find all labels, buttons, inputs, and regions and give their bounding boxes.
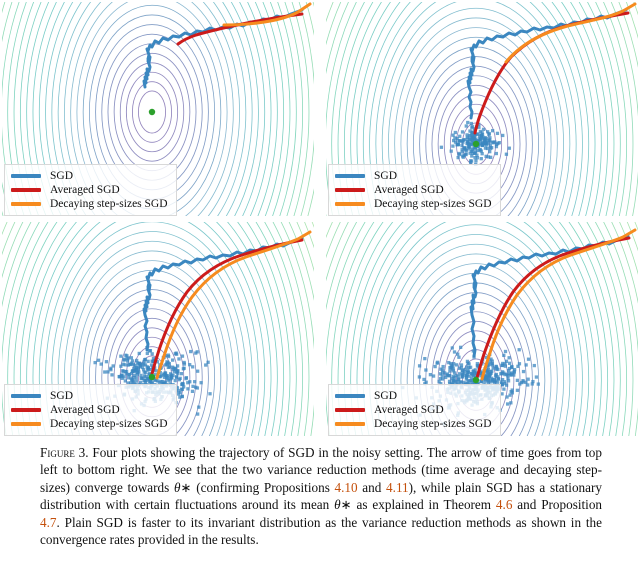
legend-entry-2: Averaged SGD bbox=[335, 403, 492, 417]
legend-entry-3: Decaying step-sizes SGD bbox=[11, 417, 168, 431]
sgd-sample-point bbox=[474, 159, 477, 162]
legend-label-3: Decaying step-sizes SGD bbox=[50, 197, 168, 211]
sgd-sample-point bbox=[124, 379, 127, 382]
sgd-sample-point bbox=[135, 379, 138, 382]
sgd-sample-point bbox=[418, 364, 421, 367]
sgd-sample-point bbox=[466, 121, 469, 124]
sgd-sample-point bbox=[130, 356, 133, 359]
legend-4: SGDAveraged SGDDecaying step-sizes SGD bbox=[328, 384, 501, 436]
figure-label: Figure 3. bbox=[40, 445, 89, 460]
sgd-sample-point bbox=[171, 368, 174, 371]
sgd-sample-point bbox=[455, 363, 458, 366]
sgd-sample-point bbox=[424, 368, 427, 371]
sgd-sample-point bbox=[506, 402, 509, 405]
sgd-sample-point bbox=[451, 346, 454, 349]
sgd-sample-point bbox=[191, 365, 194, 368]
sgd-sample-point bbox=[194, 351, 197, 354]
sgd-sample-point bbox=[452, 362, 455, 365]
reference-4-11[interactable]: 4.11 bbox=[386, 480, 409, 495]
sgd-sample-point bbox=[481, 152, 484, 155]
reference-4-6[interactable]: 4.6 bbox=[496, 497, 512, 512]
sgd-sample-point bbox=[502, 387, 505, 390]
sgd-sample-point bbox=[441, 374, 444, 377]
sgd-sample-point bbox=[181, 354, 184, 357]
sgd-sample-point bbox=[508, 367, 511, 370]
sgd-sample-point bbox=[533, 364, 536, 367]
sgd-sample-point bbox=[535, 375, 538, 378]
sgd-sample-point bbox=[457, 356, 460, 359]
sgd-sample-point bbox=[501, 364, 504, 367]
legend-entry-3: Decaying step-sizes SGD bbox=[11, 197, 168, 211]
sgd-sample-point bbox=[485, 377, 488, 380]
sgd-sample-point bbox=[531, 382, 534, 385]
sgd-sample-point bbox=[500, 372, 503, 375]
legend-label-1: SGD bbox=[50, 389, 73, 403]
sgd-sample-point bbox=[493, 378, 496, 381]
sgd-sample-point bbox=[465, 124, 468, 127]
sgd-sample-point bbox=[516, 365, 519, 368]
sgd-sample-point bbox=[105, 360, 108, 363]
sgd-sample-point bbox=[466, 362, 469, 365]
sgd-sample-point bbox=[175, 351, 178, 354]
sgd-sample-point bbox=[183, 362, 186, 365]
sgd-sample-point bbox=[516, 379, 519, 382]
sgd-sample-point bbox=[505, 153, 508, 156]
sgd-sample-point bbox=[445, 374, 448, 377]
plot-panel-top-left: SGDAveraged SGDDecaying step-sizes SGD bbox=[2, 2, 314, 216]
sgd-sample-point bbox=[513, 370, 516, 373]
sgd-sample-point bbox=[492, 366, 495, 369]
sgd-sample-point bbox=[488, 150, 491, 153]
sgd-sample-point bbox=[109, 368, 112, 371]
theta-star-2: ∗ bbox=[341, 497, 352, 512]
legend-label-3: Decaying step-sizes SGD bbox=[374, 197, 492, 211]
sgd-sample-point bbox=[188, 363, 191, 366]
legend-2: SGDAveraged SGDDecaying step-sizes SGD bbox=[328, 164, 501, 216]
line-swatch-red bbox=[335, 408, 365, 412]
sgd-sample-point bbox=[103, 370, 106, 373]
sgd-sample-point bbox=[469, 366, 472, 369]
legend-entry-1: SGD bbox=[335, 389, 492, 403]
sgd-sample-point bbox=[480, 143, 483, 146]
sgd-sample-point bbox=[185, 376, 188, 379]
sgd-sample-point bbox=[197, 406, 200, 409]
sgd-sample-point bbox=[484, 380, 487, 383]
sgd-sample-point bbox=[146, 368, 149, 371]
sgd-sample-point bbox=[470, 122, 473, 125]
sgd-sample-point bbox=[468, 134, 471, 137]
legend-entry-3: Decaying step-sizes SGD bbox=[335, 197, 492, 211]
sgd-sample-point bbox=[495, 145, 498, 148]
sgd-sample-point bbox=[138, 352, 141, 355]
sgd-sample-point bbox=[496, 375, 499, 378]
plot-panel-top-right: SGDAveraged SGDDecaying step-sizes SGD bbox=[326, 2, 638, 216]
plot-grid: SGDAveraged SGDDecaying step-sizes SGD S… bbox=[0, 0, 640, 440]
sgd-sample-point bbox=[461, 371, 464, 374]
sgd-sample-point bbox=[502, 354, 505, 357]
sgd-sample-point bbox=[208, 392, 211, 395]
sgd-sample-point bbox=[471, 139, 474, 142]
sgd-trajectory-3 bbox=[144, 238, 302, 350]
sgd-sample-point bbox=[139, 365, 142, 368]
sgd-sample-point bbox=[142, 362, 145, 365]
sgd-sample-point bbox=[422, 378, 425, 381]
line-swatch-red bbox=[11, 188, 41, 192]
sgd-sample-point bbox=[487, 133, 490, 136]
sgd-sample-point bbox=[484, 146, 487, 149]
sgd-sample-point bbox=[131, 378, 134, 381]
sgd-sample-point bbox=[167, 354, 170, 357]
sgd-sample-point bbox=[175, 375, 178, 378]
sgd-sample-point bbox=[473, 156, 476, 159]
sgd-sample-point bbox=[137, 370, 140, 373]
sgd-sample-point bbox=[191, 385, 194, 388]
sgd-sample-point bbox=[171, 358, 174, 361]
line-swatch-orange bbox=[335, 422, 365, 426]
sgd-sample-point bbox=[507, 379, 510, 382]
legend-label-3: Decaying step-sizes SGD bbox=[50, 417, 168, 431]
sgd-sample-point bbox=[177, 357, 180, 360]
sgd-sample-point bbox=[457, 152, 460, 155]
sgd-sample-point bbox=[112, 364, 115, 367]
sgd-sample-point bbox=[429, 373, 432, 376]
sgd-sample-point bbox=[159, 380, 162, 383]
sgd-sample-point bbox=[463, 154, 466, 157]
sgd-sample-point bbox=[467, 375, 470, 378]
sgd-sample-point bbox=[485, 137, 488, 140]
sgd-sample-point bbox=[516, 389, 519, 392]
sgd-sample-point bbox=[183, 367, 186, 370]
sgd-sample-point bbox=[496, 132, 499, 135]
sgd-sample-point bbox=[448, 369, 451, 372]
sgd-sample-point bbox=[464, 374, 467, 377]
reference-4-7[interactable]: 4.7 bbox=[40, 515, 56, 530]
sgd-sample-point bbox=[119, 355, 122, 358]
sgd-sample-point bbox=[451, 144, 454, 147]
sgd-sample-point bbox=[489, 156, 492, 159]
sgd-sample-point bbox=[521, 380, 524, 383]
line-swatch-red bbox=[335, 188, 365, 192]
sgd-sample-point bbox=[135, 376, 138, 379]
sgd-sample-point bbox=[467, 370, 470, 373]
sgd-sample-point bbox=[518, 348, 521, 351]
legend-entry-2: Averaged SGD bbox=[11, 403, 168, 417]
sgd-sample-point bbox=[181, 382, 184, 385]
sgd-sample-point bbox=[509, 401, 512, 404]
sgd-sample-point bbox=[480, 157, 483, 160]
sgd-sample-point bbox=[174, 379, 177, 382]
sgd-sample-point bbox=[482, 128, 485, 131]
legend-entry-1: SGD bbox=[11, 389, 168, 403]
sgd-sample-point bbox=[498, 141, 501, 144]
sgd-sample-point bbox=[450, 377, 453, 380]
sgd-sample-point bbox=[186, 387, 189, 390]
sgd-sample-point bbox=[125, 370, 128, 373]
sgd-sample-point bbox=[126, 363, 129, 366]
sgd-sample-point bbox=[459, 346, 462, 349]
sgd-sample-point bbox=[522, 370, 525, 373]
sgd-sample-point bbox=[171, 374, 174, 377]
sgd-sample-point bbox=[437, 380, 440, 383]
sgd-sample-point bbox=[100, 362, 103, 365]
legend-label-1: SGD bbox=[374, 389, 397, 403]
caption-sentence-6: and Proposition bbox=[512, 497, 602, 512]
sgd-sample-point bbox=[508, 356, 511, 359]
sgd-sample-point bbox=[461, 130, 464, 133]
sgd-sample-point bbox=[489, 147, 492, 150]
figure-page: SGDAveraged SGDDecaying step-sizes SGD S… bbox=[0, 0, 640, 582]
theta-star-1: ∗ bbox=[180, 480, 191, 495]
sgd-sample-point bbox=[479, 138, 482, 141]
sgd-sample-point bbox=[436, 361, 439, 364]
sgd-sample-point bbox=[495, 365, 498, 368]
sgd-sample-point bbox=[121, 377, 124, 380]
sgd-sample-point bbox=[508, 372, 511, 375]
caption-sentence-3: and bbox=[358, 480, 386, 495]
line-swatch-blue bbox=[335, 174, 365, 178]
sgd-sample-point bbox=[457, 139, 460, 142]
line-swatch-blue bbox=[11, 394, 41, 398]
figure-caption: Figure 3. Four plots showing the traject… bbox=[40, 444, 602, 548]
sgd-sample-point bbox=[501, 134, 504, 137]
sgd-sample-point bbox=[146, 352, 149, 355]
sgd-sample-point bbox=[136, 361, 139, 364]
sgd-sample-point bbox=[527, 358, 530, 361]
sgd-sample-point bbox=[178, 396, 181, 399]
sgd-sample-point bbox=[176, 370, 179, 373]
sgd-sample-point bbox=[470, 159, 473, 162]
sgd-sample-point bbox=[168, 362, 171, 365]
sgd-sample-point bbox=[132, 363, 135, 366]
sgd-sample-point bbox=[146, 365, 149, 368]
sgd-sample-point bbox=[458, 367, 461, 370]
optimum-theta-star-dot-4 bbox=[473, 377, 479, 383]
sgd-sample-point bbox=[518, 382, 521, 385]
sgd-sample-point bbox=[199, 381, 202, 384]
sgd-sample-point bbox=[119, 365, 122, 368]
sgd-sample-point bbox=[480, 131, 483, 134]
sgd-sample-point bbox=[526, 383, 529, 386]
sgd-sample-point bbox=[461, 150, 464, 153]
legend-label-1: SGD bbox=[374, 169, 397, 183]
sgd-sample-point bbox=[432, 374, 435, 377]
sgd-sample-point bbox=[151, 352, 154, 355]
sgd-sample-point bbox=[186, 381, 189, 384]
sgd-sample-point bbox=[495, 152, 498, 155]
sgd-sample-point bbox=[180, 372, 183, 375]
sgd-sample-point bbox=[189, 350, 192, 353]
sgd-sample-point bbox=[490, 370, 493, 373]
legend-entry-1: SGD bbox=[335, 169, 492, 183]
sgd-sample-point bbox=[121, 370, 124, 373]
reference-4-10[interactable]: 4.10 bbox=[335, 480, 358, 495]
caption-sentence-2: (confirming Propositions bbox=[192, 480, 335, 495]
sgd-sample-point bbox=[524, 363, 527, 366]
plot-panel-bottom-left: SGDAveraged SGDDecaying step-sizes SGD bbox=[2, 222, 314, 436]
sgd-sample-point bbox=[486, 130, 489, 133]
sgd-sample-point bbox=[505, 373, 508, 376]
sgd-sample-point bbox=[500, 383, 503, 386]
legend-label-1: SGD bbox=[50, 169, 73, 183]
sgd-sample-point bbox=[106, 370, 109, 373]
sgd-sample-point bbox=[124, 354, 127, 357]
sgd-sample-point bbox=[450, 149, 453, 152]
sgd-sample-point bbox=[449, 362, 452, 365]
sgd-sample-point bbox=[110, 373, 113, 376]
legend-entry-2: Averaged SGD bbox=[335, 183, 492, 197]
sgd-sample-point bbox=[127, 376, 130, 379]
sgd-sample-point bbox=[455, 143, 458, 146]
plot-panel-bottom-right: SGDAveraged SGDDecaying step-sizes SGD bbox=[326, 222, 638, 436]
sgd-sample-point bbox=[191, 390, 194, 393]
sgd-sample-point bbox=[467, 145, 470, 148]
legend-entry-1: SGD bbox=[11, 169, 168, 183]
legend-label-2: Averaged SGD bbox=[374, 183, 444, 197]
sgd-sample-point bbox=[180, 388, 183, 391]
sgd-sample-point bbox=[488, 138, 491, 141]
sgd-sample-point bbox=[455, 374, 458, 377]
sgd-sample-point bbox=[131, 369, 134, 372]
legend-1: SGDAveraged SGDDecaying step-sizes SGD bbox=[4, 164, 177, 216]
line-swatch-blue bbox=[11, 174, 41, 178]
sgd-sample-point bbox=[467, 380, 470, 383]
sgd-sample-point bbox=[168, 365, 171, 368]
sgd-sample-point bbox=[476, 149, 479, 152]
sgd-sample-point bbox=[537, 382, 540, 385]
sgd-sample-point bbox=[144, 375, 147, 378]
sgd-sample-point bbox=[500, 392, 503, 395]
sgd-sample-point bbox=[471, 149, 474, 152]
sgd-sample-point bbox=[196, 412, 199, 415]
sgd-sample-point bbox=[508, 147, 511, 150]
line-swatch-orange bbox=[335, 202, 365, 206]
sgd-sample-point bbox=[470, 143, 473, 146]
sgd-sample-point bbox=[123, 358, 126, 361]
legend-label-2: Averaged SGD bbox=[50, 403, 120, 417]
sgd-sample-point bbox=[196, 370, 199, 373]
optimum-theta-star-dot-2 bbox=[473, 141, 479, 147]
sgd-sample-point bbox=[93, 361, 96, 364]
sgd-sample-point bbox=[504, 350, 507, 353]
sgd-sample-point bbox=[460, 363, 463, 366]
sgd-sample-point bbox=[456, 156, 459, 159]
sgd-sample-point bbox=[491, 129, 494, 132]
legend-label-2: Averaged SGD bbox=[50, 183, 120, 197]
sgd-sample-point bbox=[439, 368, 442, 371]
sgd-sample-point bbox=[418, 375, 421, 378]
caption-sentence-5: as explained in Theorem bbox=[352, 497, 496, 512]
sgd-sample-point bbox=[193, 380, 196, 383]
legend-label-2: Averaged SGD bbox=[374, 403, 444, 417]
sgd-sample-point bbox=[440, 146, 443, 149]
sgd-sample-point bbox=[452, 367, 455, 370]
sgd-sample-point bbox=[470, 154, 473, 157]
sgd-sample-point bbox=[527, 378, 530, 381]
sgd-sample-point bbox=[97, 359, 100, 362]
optimum-theta-star-dot-1 bbox=[149, 109, 155, 115]
sgd-sample-point bbox=[150, 360, 153, 363]
sgd-sample-point bbox=[461, 139, 464, 142]
sgd-sample-point bbox=[503, 382, 506, 385]
sgd-sample-point bbox=[508, 362, 511, 365]
sgd-sample-point bbox=[126, 357, 129, 360]
sgd-sample-point bbox=[493, 140, 496, 143]
line-swatch-orange bbox=[11, 202, 41, 206]
sgd-sample-point bbox=[453, 350, 456, 353]
sgd-sample-point bbox=[509, 390, 512, 393]
sgd-sample-point bbox=[177, 392, 180, 395]
legend-entry-2: Averaged SGD bbox=[11, 183, 168, 197]
caption-sentence-7: . Plain SGD is faster to its invariant d… bbox=[40, 515, 602, 547]
sgd-sample-point bbox=[456, 353, 459, 356]
sgd-sample-point bbox=[453, 136, 456, 139]
sgd-sample-point bbox=[130, 372, 133, 375]
sgd-sample-point bbox=[165, 374, 168, 377]
sgd-sample-point bbox=[434, 365, 437, 368]
legend-3: SGDAveraged SGDDecaying step-sizes SGD bbox=[4, 384, 177, 436]
sgd-sample-point bbox=[508, 393, 511, 396]
legend-entry-3: Decaying step-sizes SGD bbox=[335, 417, 492, 431]
sgd-sample-point bbox=[179, 377, 182, 380]
sgd-sample-point bbox=[486, 142, 489, 145]
sgd-sample-point bbox=[453, 380, 456, 383]
line-swatch-red bbox=[11, 408, 41, 412]
sgd-sample-point bbox=[505, 360, 508, 363]
sgd-sample-point bbox=[206, 361, 209, 364]
line-swatch-orange bbox=[11, 422, 41, 426]
sgd-sample-point bbox=[505, 395, 508, 398]
line-swatch-blue bbox=[335, 394, 365, 398]
sgd-sample-point bbox=[463, 146, 466, 149]
sgd-sample-point bbox=[460, 375, 463, 378]
optimum-theta-star-dot-3 bbox=[149, 374, 155, 380]
legend-label-3: Decaying step-sizes SGD bbox=[374, 417, 492, 431]
sgd-sample-point bbox=[423, 357, 426, 360]
